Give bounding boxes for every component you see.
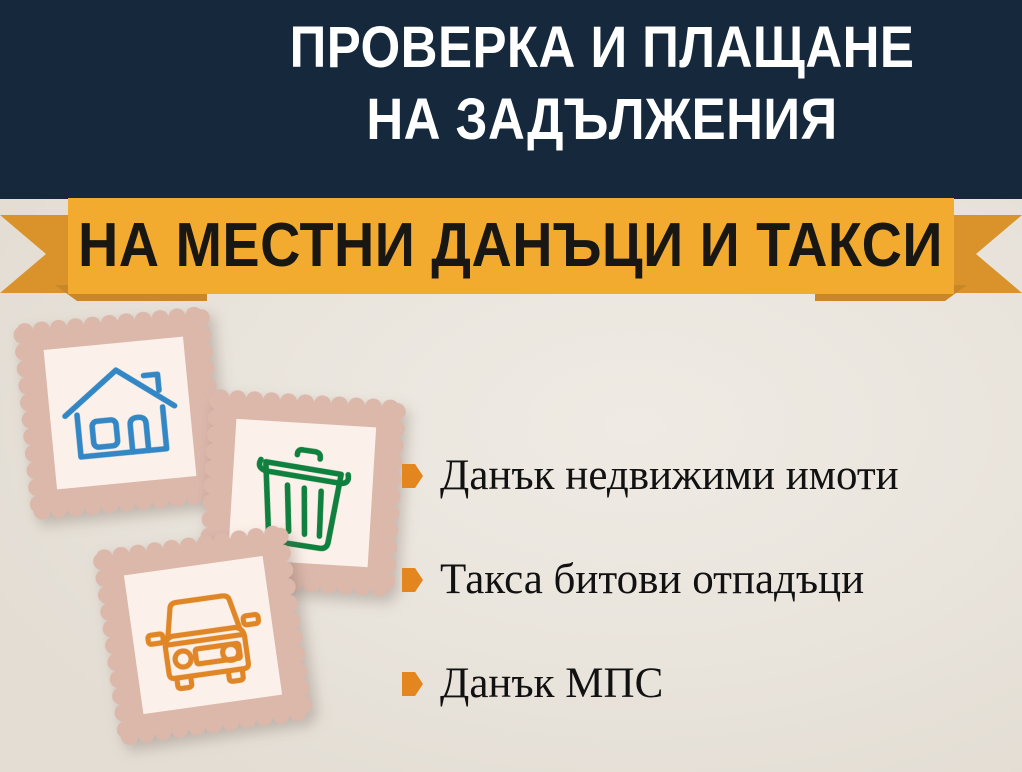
arrow-bullet-icon <box>402 672 423 696</box>
arrow-bullet-icon <box>402 464 423 488</box>
ribbon-banner: НА МЕСТНИ ДАНЪЦИ И ТАКСИ <box>0 196 1022 308</box>
ribbon-label: НА МЕСТНИ ДАНЪЦИ И ТАКСИ <box>79 214 944 278</box>
list-item-label: Такса битови отпадъци <box>440 555 864 605</box>
list-item-label: Данък МПС <box>440 659 663 709</box>
ribbon-main-panel: НА МЕСТНИ ДАНЪЦИ И ТАКСИ <box>68 198 954 294</box>
page-title: ПРОВЕРКА И ПЛАЩАНЕ НА ЗАДЪЛЖЕНИЯ <box>192 12 1012 156</box>
list-item-label: Данък недвижими имоти <box>440 451 899 501</box>
list-item: Такса битови отпадъци <box>402 528 1012 632</box>
list-item: Данък МПС <box>402 632 1012 736</box>
arrow-bullet-icon <box>402 568 423 592</box>
poster-root: община ЕЛИН ПЕЛИН <box>0 0 1022 772</box>
title-line-1: ПРОВЕРКА И ПЛАЩАНЕ <box>241 12 963 84</box>
stamp-card-property <box>16 309 223 516</box>
stamp-card-vehicle <box>96 528 311 743</box>
title-line-2: НА ЗАДЪЛЖЕНИЯ <box>241 84 963 156</box>
list-item: Данък недвижими имоти <box>402 424 1012 528</box>
obligation-types-list: Данък недвижими имоти Такса битови отпад… <box>402 424 1012 736</box>
